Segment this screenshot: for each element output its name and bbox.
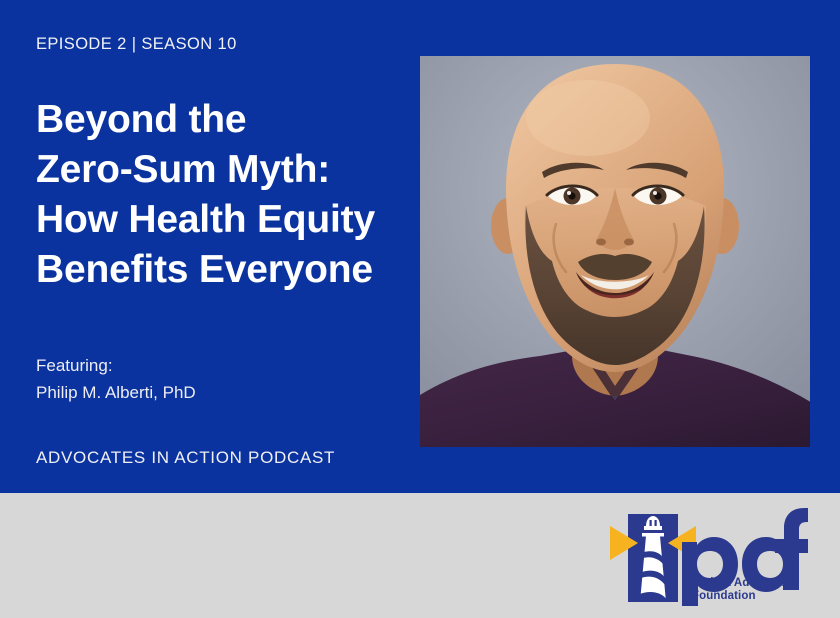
- title-line-4: Benefits Everyone: [36, 245, 396, 295]
- paf-logo: Patient Advocate Foundation: [608, 508, 808, 606]
- title-line-2: Zero-Sum Myth:: [36, 145, 396, 195]
- logo-name-line-1: Patient Advocate: [692, 577, 786, 589]
- podcast-series-label: ADVOCATES IN ACTION PODCAST: [36, 448, 335, 468]
- guest-headshot-photo: [420, 56, 810, 447]
- episode-season-label: EPISODE 2 | SEASON 10: [36, 35, 237, 54]
- featuring-block: Featuring: Philip M. Alberti, PhD: [36, 352, 196, 406]
- featuring-heading: Featuring:: [36, 352, 196, 379]
- featuring-guest-name: Philip M. Alberti, PhD: [36, 379, 196, 406]
- title-line-1: Beyond the: [36, 95, 396, 145]
- text-column: EPISODE 2 | SEASON 10 Beyond the Zero-Su…: [36, 0, 406, 493]
- podcast-episode-card: EPISODE 2 | SEASON 10 Beyond the Zero-Su…: [0, 0, 840, 618]
- episode-title: Beyond the Zero-Sum Myth: How Health Equ…: [36, 95, 396, 295]
- title-line-3: How Health Equity: [36, 195, 396, 245]
- logo-name-line-2: Foundation: [692, 590, 756, 602]
